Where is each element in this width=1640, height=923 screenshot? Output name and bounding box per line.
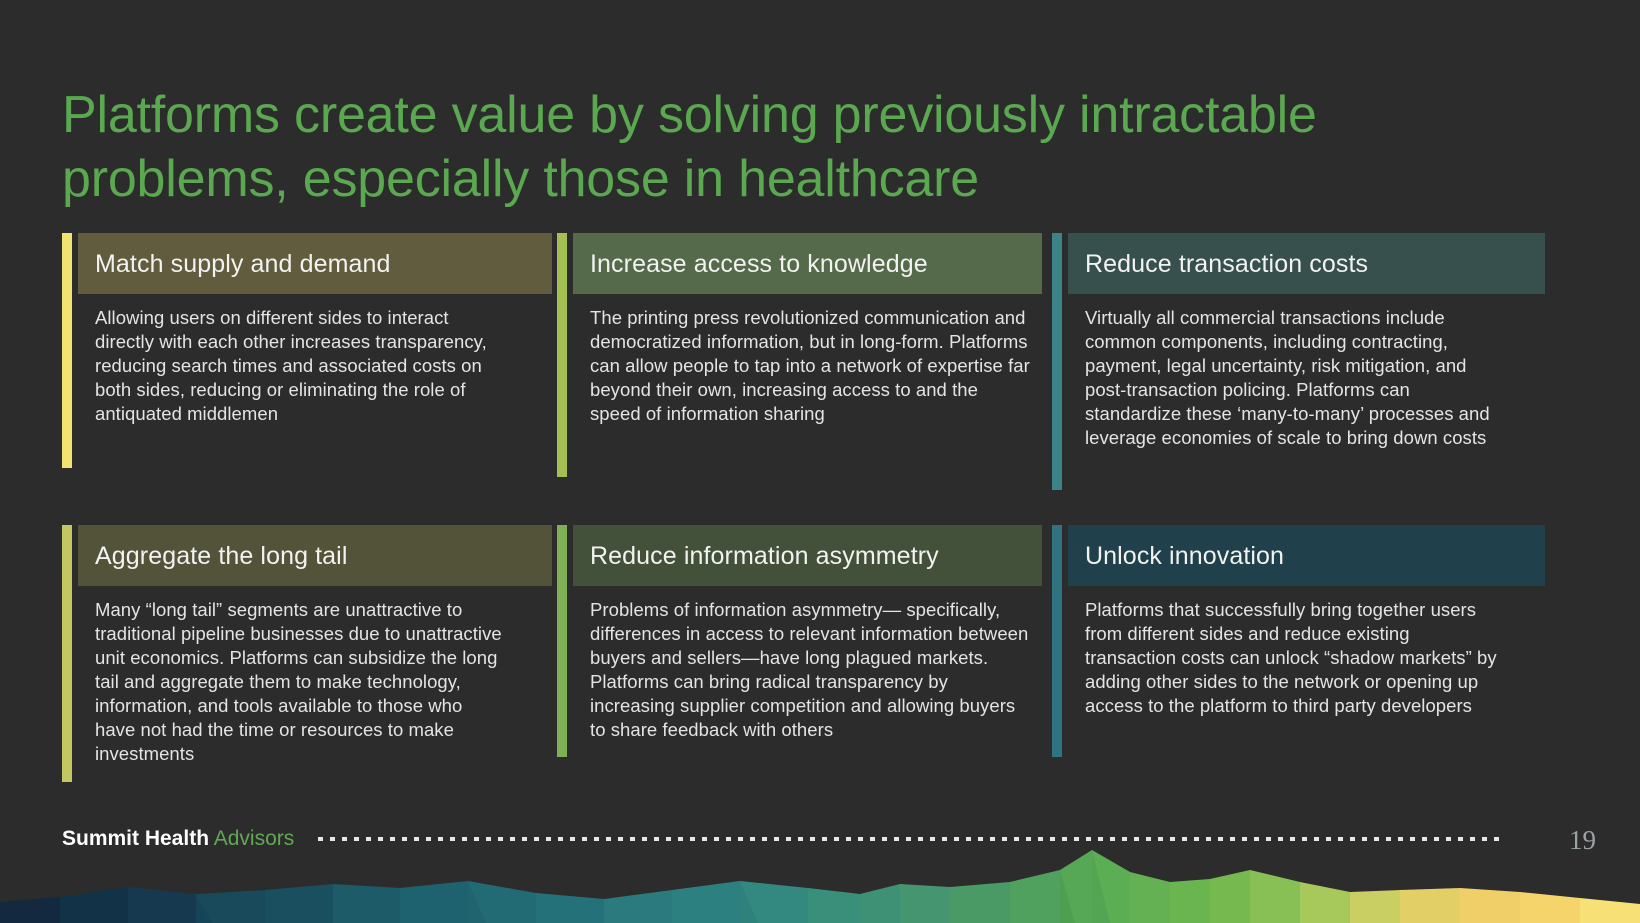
card-body-text: Virtually all commercial transactions in… <box>1085 306 1503 450</box>
card-header: Reduce transaction costs <box>1068 233 1545 294</box>
card-body-text: Problems of information asymmetry— speci… <box>590 598 1030 742</box>
card-body-text: The printing press revolutionized commun… <box>590 306 1030 426</box>
card-accent-bar <box>557 233 567 477</box>
card-title: Increase access to knowledge <box>573 249 928 279</box>
card-header: Reduce information asymmetry <box>573 525 1042 586</box>
card-accent-bar <box>1052 525 1062 757</box>
card-reduce-information-asymmetry[interactable]: Reduce information asymmetry Problems of… <box>557 525 1023 800</box>
card-header: Unlock innovation <box>1068 525 1545 586</box>
card-accent-bar <box>62 525 72 782</box>
card-title: Reduce transaction costs <box>1068 249 1368 279</box>
card-title: Match supply and demand <box>78 249 391 279</box>
card-title: Unlock innovation <box>1068 541 1284 571</box>
page-title: Platforms create value by solving previo… <box>62 83 1552 211</box>
card-title: Aggregate the long tail <box>78 541 347 571</box>
card-body-text: Allowing users on different sides to int… <box>95 306 507 426</box>
card-body-text: Many “long tail” segments are unattracti… <box>95 598 507 766</box>
slide-canvas: Platforms create value by solving previo… <box>0 0 1640 923</box>
page-number: 19 <box>1569 825 1596 855</box>
card-unlock-innovation[interactable]: Unlock innovation Platforms that success… <box>1052 525 1518 800</box>
card-accent-bar <box>1052 233 1062 490</box>
card-body-text: Platforms that successfully bring togeth… <box>1085 598 1503 718</box>
card-aggregate-the-long-tail[interactable]: Aggregate the long tail Many “long tail”… <box>62 525 528 800</box>
card-header: Increase access to knowledge <box>573 233 1042 294</box>
card-accent-bar <box>557 525 567 757</box>
slide-footer: Summit Health Advisors 19 <box>0 798 1640 923</box>
card-row-top: Match supply and demand Allowing users o… <box>62 233 1498 525</box>
card-row-bottom: Aggregate the long tail Many “long tail”… <box>62 525 1498 817</box>
card-header: Aggregate the long tail <box>78 525 552 586</box>
footer-logo: Summit Health Advisors <box>62 827 294 851</box>
footer-logo-secondary: Advisors <box>214 827 295 850</box>
card-title: Reduce information asymmetry <box>573 541 939 571</box>
footer-divider-dotted-line <box>318 837 1504 841</box>
footer-logo-primary: Summit Health <box>62 827 209 850</box>
card-accent-bar <box>62 233 72 468</box>
card-match-supply-and-demand[interactable]: Match supply and demand Allowing users o… <box>62 233 528 508</box>
card-increase-access-to-knowledge[interactable]: Increase access to knowledge The printin… <box>557 233 1023 508</box>
card-reduce-transaction-costs[interactable]: Reduce transaction costs Virtually all c… <box>1052 233 1518 508</box>
card-header: Match supply and demand <box>78 233 552 294</box>
mountain-range-decoration <box>0 798 1640 923</box>
